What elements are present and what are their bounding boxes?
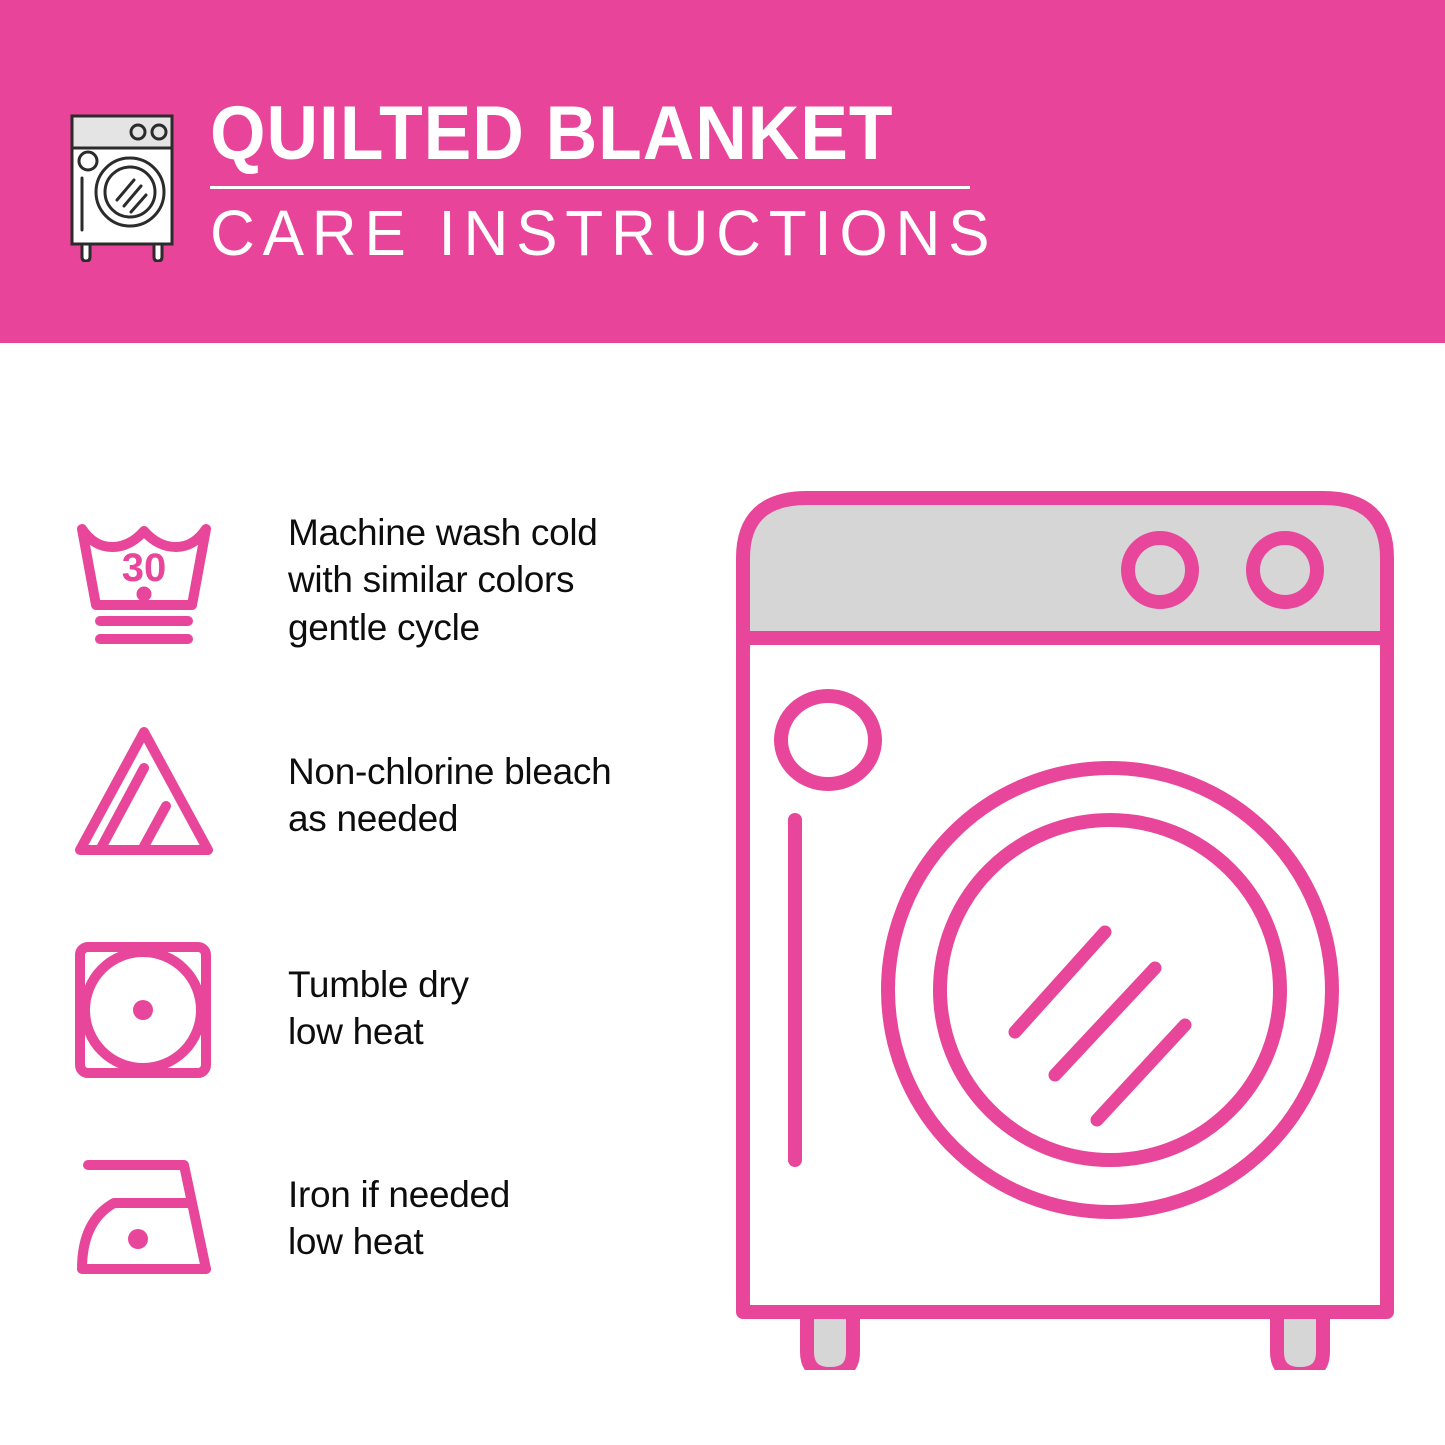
wash-temperature-label: 30: [122, 546, 167, 590]
care-text: Tumble dry low heat: [288, 935, 469, 1056]
title-divider: [210, 186, 970, 189]
header-banner: QUILTED BLANKET CARE INSTRUCTIONS: [0, 0, 1445, 343]
machine-wash-cold-gentle-icon: 30: [66, 501, 226, 651]
control-knob-right: [1253, 538, 1317, 602]
large-washing-machine-illustration: [715, 470, 1415, 1370]
non-chlorine-bleach-icon: [66, 718, 226, 868]
care-row: 30 Machine wash cold with similar colors…: [66, 501, 686, 651]
control-knob-left: [1128, 538, 1192, 602]
care-row: Non-chlorine bleach as needed: [66, 718, 686, 868]
care-row: Tumble dry low heat: [66, 935, 686, 1085]
indicator-light: [781, 696, 875, 784]
care-instruction-list: 30 Machine wash cold with similar colors…: [0, 343, 700, 1445]
header-title-group: QUILTED BLANKET CARE INSTRUCTIONS: [210, 96, 1022, 265]
page-title: QUILTED BLANKET: [210, 96, 973, 172]
care-text: Non-chlorine bleach as needed: [288, 718, 611, 843]
care-text: Machine wash cold with similar colors ge…: [288, 501, 598, 651]
washer-leg-left: [807, 1312, 853, 1370]
washer-leg-right: [1277, 1312, 1323, 1370]
header-content: QUILTED BLANKET CARE INSTRUCTIONS: [58, 96, 1022, 265]
care-row: Iron if needed low heat: [66, 1143, 686, 1293]
care-text: Iron if needed low heat: [288, 1143, 510, 1266]
iron-low-heat-icon: [66, 1143, 226, 1293]
page-subtitle: CARE INSTRUCTIONS: [210, 201, 997, 265]
washing-machine-icon: [58, 102, 188, 262]
tumble-dry-low-icon: [66, 935, 226, 1085]
